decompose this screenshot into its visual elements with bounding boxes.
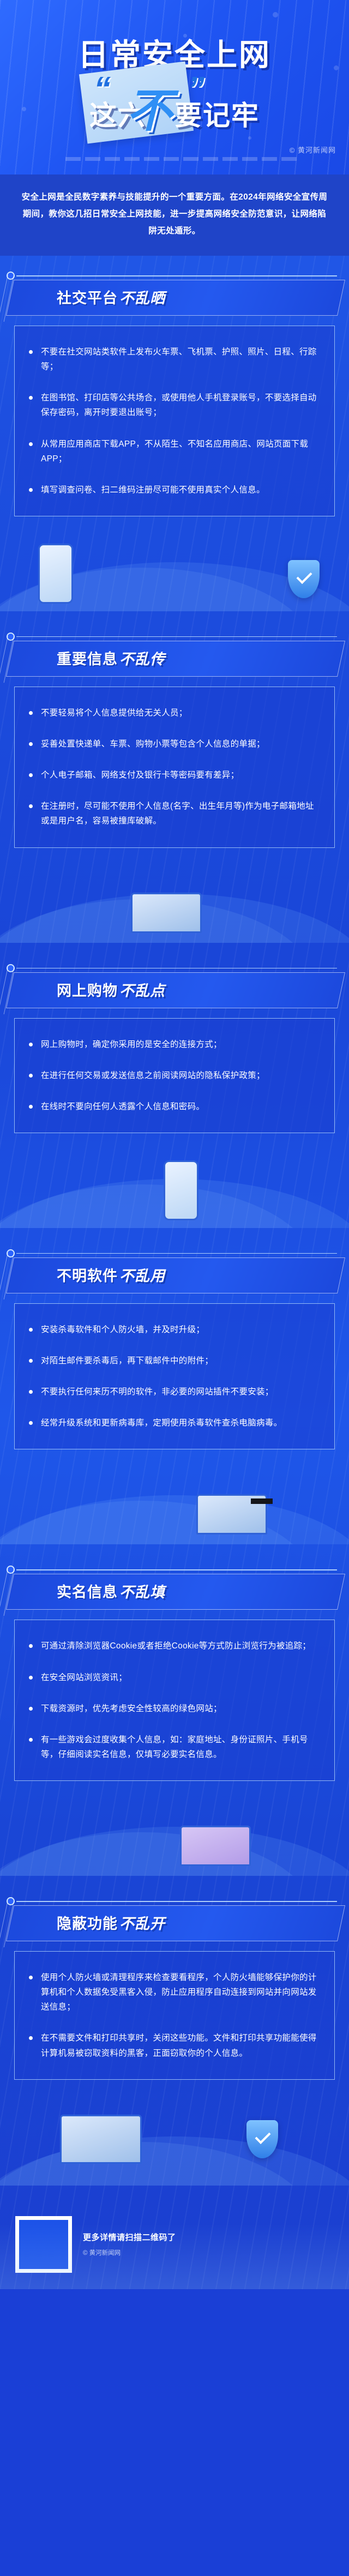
list-item: 不要执行任何来历不明的软件，非必要的网站插件不要安装； [27,1385,320,1399]
section-title-accent: 不乱用 [119,1268,165,1284]
quote-close-icon: ” [188,70,204,109]
section-title: 社交平台不乱晒 [57,286,165,308]
section-body: 不要轻易将个人信息提供给无关人员； 妥善处置快递单、车票、购物小票等包含个人信息… [14,687,335,848]
person-figure-icon [125,1823,155,1870]
section-title-plain: 网上购物 [57,983,118,999]
section-illustration [0,513,349,611]
section-header: 不明软件不乱用 [0,1248,349,1300]
section-title-accent: 不乱晒 [119,290,165,306]
section-title-accent: 不乱点 [119,983,165,999]
bullet-list: 安装杀毒软件和个人防火墙，并及时升级； 对陌生邮件要杀毒后，再下载邮件中的附件；… [27,1322,320,1431]
section-header: 社交平台不乱晒 [0,270,349,322]
list-item: 有一些游戏会过度收集个人信息，如：家庭地址、身份证照片、手机号等，仔细阅读实名信… [27,1732,320,1762]
person-figure-icon [194,1176,223,1223]
section-title-plain: 实名信息 [57,1584,118,1600]
hero-byline: © 黄河新闻网 [290,145,336,155]
section-header: 隐蔽功能不乱开 [0,1895,349,1948]
infographic-page: 日常安全上网 “ 不 ” 这六不要记牢 © 黄河新闻网 安全上网是全民数字素养与… [0,0,349,2289]
bullet-list: 网上购物时，确定你采用的是安全的连接方式； 在进行任何交易或发送信息之前阅读网站… [27,1037,320,1114]
hero-subtitle-group: “ 不 ” 这六不要记牢 [0,94,349,143]
bullet-list: 不要轻易将个人信息提供给无关人员； 妥善处置快递单、车票、购物小票等包含个人信息… [27,706,320,829]
hero-banner: 日常安全上网 “ 不 ” 这六不要记牢 © 黄河新闻网 [0,0,349,174]
server-rack-icon [60,2115,142,2164]
section-illustration [0,2077,349,2186]
section-body: 使用个人防火墙或清理程序来检查要看程序，个人防火墙能够保护你的计算机和个人数据免… [14,1951,335,2080]
list-item: 在安全网站浏览资讯； [27,1670,320,1685]
list-item: 填写调查问卷、扫二维码注册尽可能不使用真实个人信息。 [27,483,320,497]
header-rule [16,636,337,637]
person-figure-icon [90,890,119,937]
list-item: 从常用应用商店下载APP，不从陌生、不知名应用商店、网站页面下载APP； [27,437,320,466]
list-item: 经常升级系统和更新病毒库，定期使用杀毒软件查杀电脑病毒。 [27,1416,320,1430]
section-title-accent: 不乱传 [119,651,165,667]
list-item: 网上购物时，确定你采用的是安全的连接方式； [27,1037,320,1052]
person-figure-icon [238,1176,267,1223]
section-real-name-info: 实名信息不乱填 可通过清除浏览器Cookie或者拒绝Cookie等方式防止浏览行… [0,1564,349,1881]
section-title-plain: 不明软件 [57,1268,118,1284]
footer-qr-block: 更多详情请扫描二维码了 © 黄河新闻网 [0,2202,349,2289]
section-title: 实名信息不乱填 [57,1580,165,1602]
intro-paragraph: 安全上网是全民数字素养与技能提升的一个重要方面。在2024年网络安全宣传周期间，… [21,189,328,239]
header-rule [16,275,337,276]
laptop-icon [131,893,202,933]
city-skyline-decor [0,2224,349,2289]
list-item: 在注册时，尽可能不使用个人信息(名字、出生年月等)作为电子邮箱地址或是用户名，容… [27,799,320,828]
section-header: 网上购物不乱点 [0,962,349,1015]
bullet-list: 可通过清除浏览器Cookie或者拒绝Cookie等方式防止浏览行为被追踪； 在安… [27,1639,320,1762]
person-figure-icon [238,890,267,937]
bullet-list: 使用个人防火墙或清理程序来检查要看程序，个人防火墙能够保护你的计算机和个人数据免… [27,1970,320,2061]
section-important-info: 重要信息不乱传 不要轻易将个人信息提供给无关人员； 妥善处置快递单、车票、购物小… [0,631,349,948]
section-header: 重要信息不乱传 [0,631,349,683]
list-item: 在不需要文件和打印共享时，关闭这些功能。文件和打印共享功能能使得计算机易被窃取资… [27,2031,320,2060]
hero-accent-word: 不 [127,74,172,140]
list-item: 妥善处置快递单、车票、购物小票等包含个人信息的单据； [27,737,320,751]
header-rule [16,1901,337,1902]
header-rule [16,1569,337,1570]
section-title: 重要信息不乱传 [57,647,165,669]
section-unknown-software: 不明软件不乱用 安装杀毒软件和个人防火墙，并及时升级； 对陌生邮件要杀毒后，再下… [0,1248,349,1550]
section-title-plain: 隐蔽功能 [57,1916,118,1932]
list-item: 在线时不要向任何人透露个人信息和密码。 [27,1099,320,1114]
section-title: 不明软件不乱用 [57,1264,165,1285]
list-item: 下载资源时，优先考虑安全性较高的绿色网站； [27,1701,320,1716]
section-social-platform: 社交平台不乱晒 不要在社交网站类软件上发布火车票、飞机票、护照、照片、日程、行踪… [0,270,349,617]
section-title-plain: 重要信息 [57,651,118,667]
bullet-list: 不要在社交网站类软件上发布火车票、飞机票、护照、照片、日程、行踪等； 在图书馆、… [27,345,320,497]
section-body: 不要在社交网站类软件上发布火车票、飞机票、护照、照片、日程、行踪等； 在图书馆、… [14,326,335,516]
section-online-shopping: 网上购物不乱点 网上购物时，确定你采用的是安全的连接方式； 在进行任何交易或发送… [0,962,349,1233]
quote-open-icon: “ [94,70,111,109]
list-item: 可通过清除浏览器Cookie或者拒绝Cookie等方式防止浏览行为被追踪； [27,1639,320,1653]
list-item: 个人电子邮箱、网络支付及银行卡等密码要有差异； [27,768,320,783]
section-hidden-features: 隐蔽功能不乱开 使用个人防火墙或清理程序来检查要看程序，个人防火墙能够保护你的计… [0,1895,349,2191]
section-illustration [0,1778,349,1876]
section-header: 实名信息不乱填 [0,1564,349,1616]
bubble-decor-icon [273,12,278,17]
wave-decor [0,2136,349,2186]
intro-panel: 安全上网是全民数字素养与技能提升的一个重要方面。在2024年网络安全宣传周期间，… [0,174,349,256]
hacker-figure-icon [251,1495,284,1539]
section-body: 安装杀毒软件和个人防火墙，并及时升级； 对陌生邮件要杀毒后，再下载邮件中的附件；… [14,1303,335,1450]
section-title: 网上购物不乱点 [57,979,165,1000]
section-title-accent: 不乱开 [119,1916,165,1932]
document-card-icon [180,1826,251,1866]
section-illustration [0,1130,349,1228]
list-item: 在图书馆、打印店等公共场合，或使用他人手机登录账号，不要选择自动保存密码，离开时… [27,390,320,420]
list-item: 对陌生邮件要杀毒后，再下载邮件中的附件； [27,1353,320,1368]
section-illustration [0,1446,349,1544]
header-rule [16,968,337,969]
section-illustration [0,845,349,943]
wave-decor [0,1495,349,1544]
list-item: 不要轻易将个人信息提供给无关人员； [27,706,320,720]
section-title-plain: 社交平台 [57,290,118,306]
section-title-accent: 不乱填 [119,1584,165,1600]
list-item: 安装杀毒软件和个人防火墙，并及时升级； [27,1322,320,1337]
hero-bar-decor [0,157,349,166]
list-item: 在进行任何交易或发送信息之前阅读网站的隐私保护政策； [27,1068,320,1083]
section-title: 隐蔽功能不乱开 [57,1912,165,1933]
list-item: 使用个人防火墙或清理程序来检查要看程序，个人防火墙能够保护你的计算机和个人数据免… [27,1970,320,2014]
person-figure-icon [90,559,119,606]
smartphone-icon [38,544,73,604]
header-rule [16,1253,337,1254]
section-body: 网上购物时，确定你采用的是安全的连接方式； 在进行任何交易或发送信息之前阅读网站… [14,1018,335,1133]
list-item: 不要在社交网站类软件上发布火车票、飞机票、护照、照片、日程、行踪等； [27,345,320,374]
section-body: 可通过清除浏览器Cookie或者拒绝Cookie等方式防止浏览行为被追踪； 在安… [14,1620,335,1781]
wave-decor [0,1827,349,1876]
